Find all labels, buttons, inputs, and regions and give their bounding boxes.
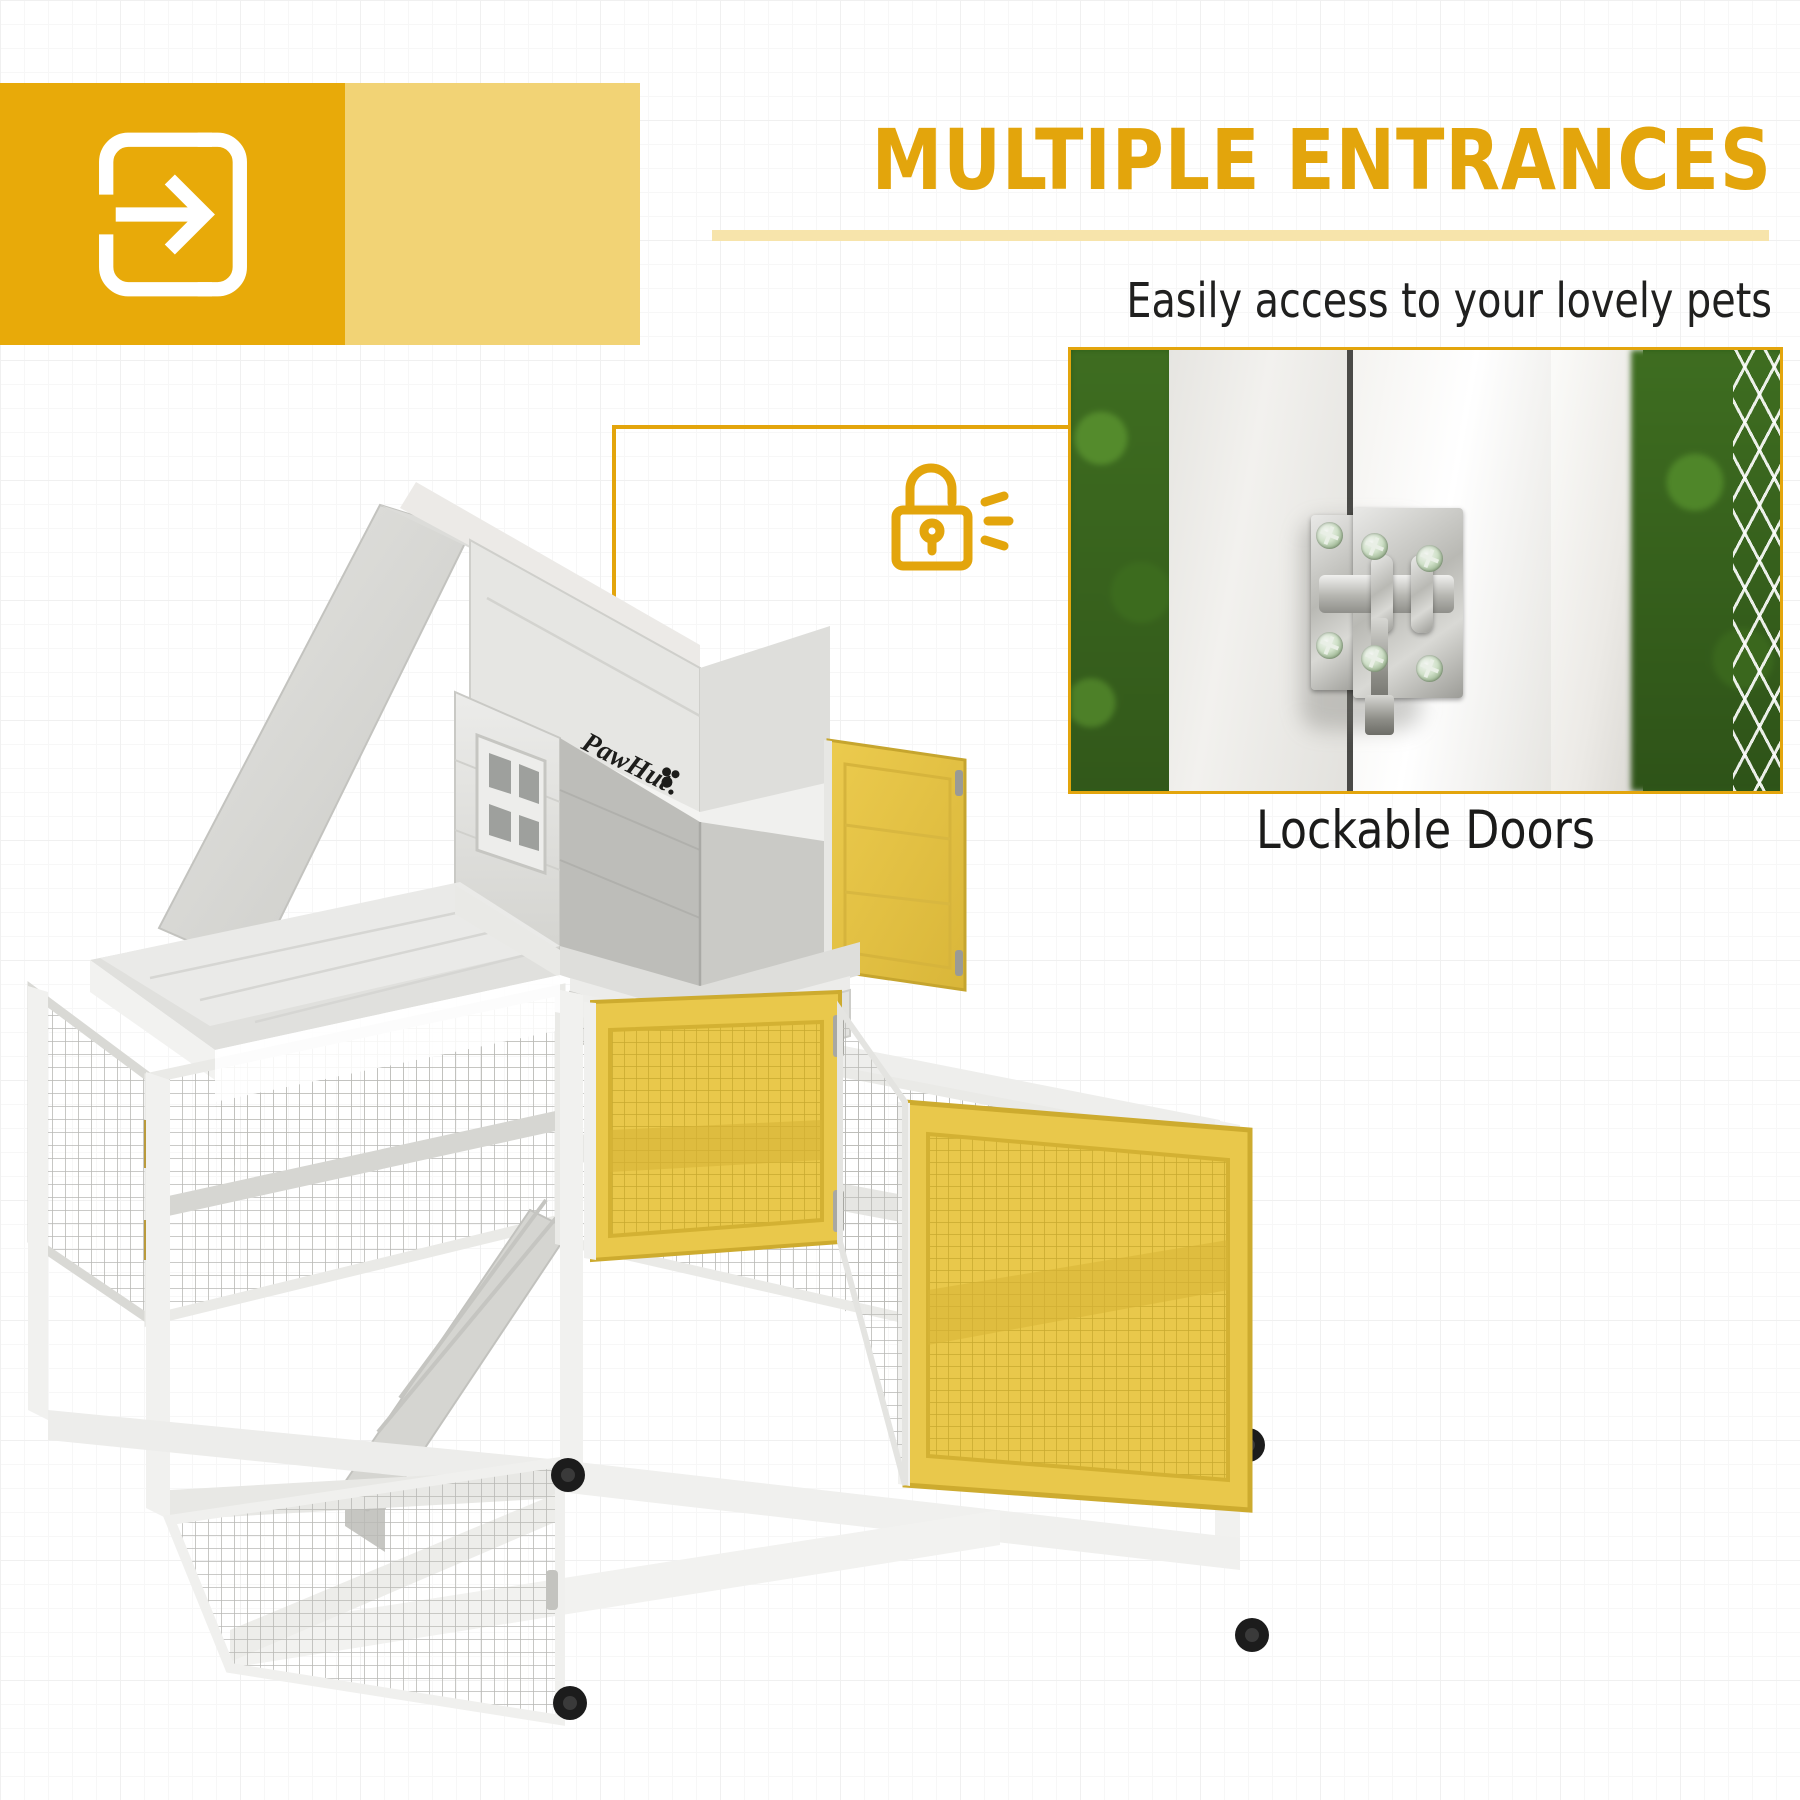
screw-bottom-right [1416,655,1443,682]
run-post-far-left [28,986,48,1420]
middle-yellow-mesh-door[interactable] [584,992,844,1260]
photo-wire-mesh [1733,350,1783,791]
title-underline-rule [712,230,1769,241]
header-badge [0,83,640,345]
product-illustration: PawHut [0,430,1320,1800]
page-subtitle: Easily access to your lovely pets [797,273,1772,329]
black-knob-right-lower[interactable] [1235,1618,1269,1652]
page-title: MULTIPLE ENTRANCES [776,118,1772,202]
screw-top-left [1316,522,1343,549]
photo-door-post [1551,350,1643,791]
silver-latch[interactable] [546,1570,558,1610]
black-knob-upper[interactable] [551,1458,585,1492]
enter-arrow-icon [93,127,253,302]
screw-bottom-left [1316,632,1343,659]
badge-tint-block [345,83,640,345]
lower-yellow-mesh-door[interactable] [898,1102,1250,1510]
black-knob-lower[interactable] [553,1686,587,1720]
screw-top-right [1416,545,1443,572]
header-text-group: MULTIPLE ENTRANCES Easily access to your… [712,118,1772,329]
screw-bottom-mid [1361,645,1388,672]
badge-solid-block [0,83,345,345]
run-post-center [560,990,583,1468]
run-post-left [146,1072,170,1520]
window [477,735,545,873]
screw-top-mid [1361,533,1388,560]
latch-pin-knob [1365,695,1394,735]
